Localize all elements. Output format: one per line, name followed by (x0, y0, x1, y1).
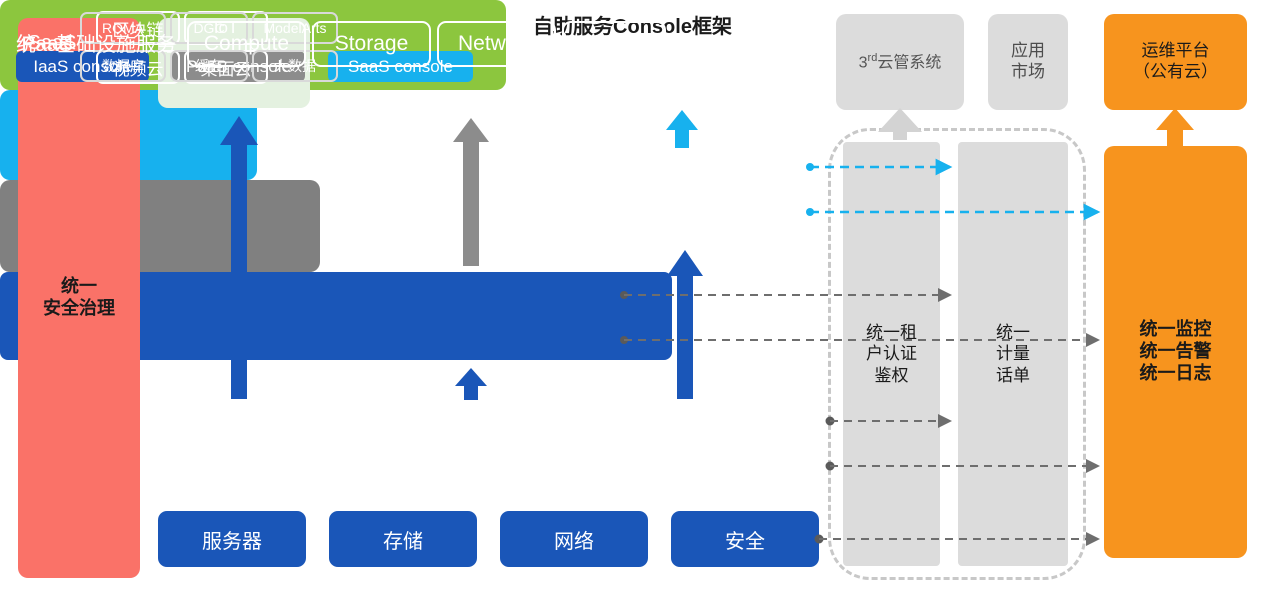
infra-item-network[interactable]: Network (437, 21, 556, 67)
ops-main-line-1: 统一监控 (1140, 319, 1212, 341)
unified-security-governance-block: 统一 安全治理 (18, 18, 140, 578)
infra-item-cce[interactable]: CCE (562, 21, 666, 67)
arrow-saas-to-saas-console (666, 110, 698, 148)
security-line-2: 安全治理 (43, 298, 115, 320)
ops-top-line-2: （公有云） (1133, 62, 1218, 83)
metering-line-1: 统一 (996, 322, 1030, 343)
hardware-item-network[interactable]: 网络 (500, 511, 648, 567)
hardware-item-server[interactable]: 服务器 (158, 511, 306, 567)
architecture-diagram: 统一 安全治理 API网关 自助服务Console框架 IaaS console… (0, 0, 1265, 605)
third-party-label: 3rd云管系统 (859, 52, 942, 73)
infra-label: 统一基础设施服务 (16, 28, 176, 57)
arrow-infra-to-paas (455, 368, 487, 400)
unified-metering-billing-column: 统一 计量 话单 (958, 142, 1068, 566)
arrow-infra-to-saas (667, 250, 703, 399)
arrow-ops-main-to-ops-top (1156, 108, 1194, 146)
security-line-1: 统一 (43, 276, 115, 298)
hardware-item-security[interactable]: 安全 (671, 511, 819, 567)
unified-tenant-auth-column: 统一租 户认证 鉴权 (843, 142, 940, 566)
ops-top-line-1: 运维平台 (1133, 41, 1218, 62)
app-market-line-2: 市场 (1011, 62, 1045, 83)
infra-item-compute[interactable]: Compute (187, 21, 306, 67)
app-market-block: 应用 市场 (988, 14, 1068, 110)
ops-main-line-2: 统一告警 (1140, 341, 1212, 363)
auth-line-3: 鉴权 (866, 365, 917, 386)
auth-line-1: 统一租 (866, 322, 917, 343)
auth-line-2: 户认证 (866, 343, 917, 364)
metering-line-2: 计量 (996, 343, 1030, 364)
app-market-line-1: 应用 (1011, 41, 1045, 62)
hardware-item-storage[interactable]: 存储 (329, 511, 477, 567)
ops-platform-public-cloud-block: 运维平台 （公有云） (1104, 14, 1247, 110)
infra-item-storage[interactable]: Storage (312, 21, 431, 67)
unified-monitoring-alarm-log-block: 统一监控 统一告警 统一日志 (1104, 146, 1247, 558)
arrow-paas-to-console (453, 118, 489, 266)
metering-line-3: 话单 (996, 365, 1030, 386)
third-party-cloud-management-block: 3rd云管系统 (836, 14, 964, 110)
ops-main-line-3: 统一日志 (1140, 363, 1212, 385)
